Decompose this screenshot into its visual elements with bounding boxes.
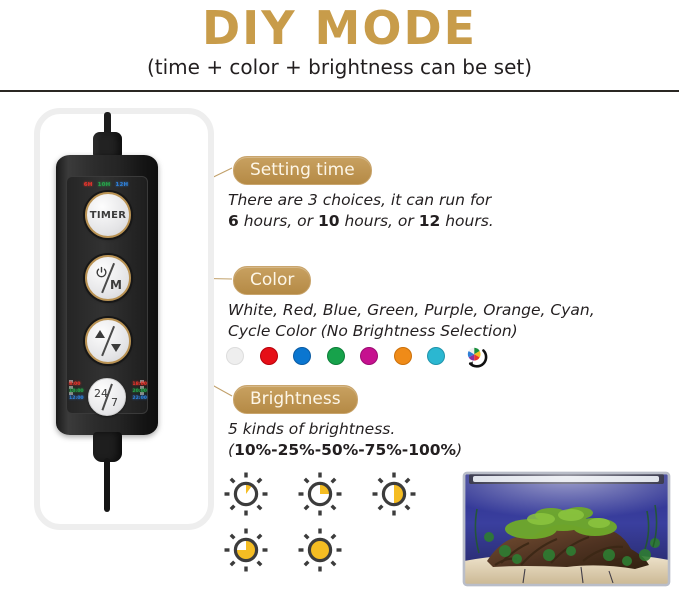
schedule-left-1: 8:00 [69, 382, 80, 387]
swatch-purple[interactable] [360, 347, 378, 365]
brightness-icon-grid [222, 470, 452, 582]
sun-icon-100 [296, 526, 344, 574]
badge-setting-time: Setting time [233, 156, 372, 185]
diy-mode-infographic: DIY MODE (time + color + brightness can … [0, 0, 679, 605]
schedule-right-1: 18:00 [132, 382, 147, 387]
sun-icon-75 [222, 526, 270, 574]
schedule-times-left: 8:00 10:00 12:00 [69, 382, 89, 401]
color-line2: Cycle Color (No Brightness Selection) [228, 321, 518, 342]
planted-aquarium-photo [459, 465, 674, 593]
schedule-times-right: 18:00 20:00 22:00 [127, 382, 147, 401]
sun-icon-50 [370, 470, 418, 518]
hours-12: 12 [419, 212, 441, 230]
cycle-24-7-button[interactable]: 24 7 [88, 378, 126, 416]
brightness-line2: (10%-25%-50%-75%-100%) [228, 440, 462, 461]
header-divider [0, 90, 679, 92]
swatch-white[interactable] [226, 347, 244, 365]
page-title: DIY MODE [0, 2, 679, 54]
color-cycle-icon[interactable] [464, 344, 488, 368]
power-cord-bottom [104, 458, 110, 512]
timer-button[interactable]: TIMER [85, 192, 131, 238]
badge-brightness: Brightness [233, 385, 358, 414]
schedule-left-2: 10:00 [69, 389, 84, 394]
color-line1: White, Red, Blue, Green, Purple, Orange,… [228, 300, 595, 321]
brightness-row-1 [222, 470, 452, 518]
swatch-orange[interactable] [394, 347, 412, 365]
arrow-down-icon [111, 344, 121, 352]
timer-led-10h: 10H [98, 182, 111, 188]
mode-letter-label: M [110, 279, 122, 291]
schedule-right-3: 22:00 [132, 396, 147, 401]
hours-6: 6 [228, 212, 239, 230]
sun-icon-25 [296, 470, 344, 518]
schedule-left-3: 12:00 [69, 396, 84, 401]
timer-led-6h: 6H [84, 182, 93, 188]
timer-led-indicators: 6H 10H 12H [66, 182, 146, 188]
swatch-cyan[interactable] [427, 347, 445, 365]
brightness-button[interactable] [85, 318, 131, 364]
setting-time-line1: There are 3 choices, it can run for [228, 190, 491, 211]
hours-10: 10 [318, 212, 340, 230]
swatch-green[interactable] [327, 347, 345, 365]
brightness-levels-text: 10%-25%-50%-75%-100% [234, 441, 456, 459]
brightness-row-2 [222, 526, 452, 574]
arrow-up-icon [95, 330, 105, 338]
brightness-line1: 5 kinds of brightness. [228, 419, 395, 440]
color-swatch-row [226, 344, 488, 368]
swatch-blue[interactable] [293, 347, 311, 365]
badge-color: Color [233, 266, 311, 295]
setting-time-line2: 6 hours, or 10 hours, or 12 hours. [228, 211, 494, 232]
sun-icon-10 [222, 470, 270, 518]
schedule-right-2: 20:00 [132, 389, 147, 394]
power-mode-button[interactable]: M [85, 255, 131, 301]
cycle-24-label: 24 [94, 387, 108, 400]
power-icon [95, 266, 108, 279]
swatch-red[interactable] [260, 347, 278, 365]
timer-button-label: TIMER [90, 210, 127, 221]
cycle-7-label: 7 [111, 396, 118, 409]
page-subtitle: (time + color + brightness can be set) [0, 55, 679, 79]
timer-led-12h: 12H [115, 182, 128, 188]
